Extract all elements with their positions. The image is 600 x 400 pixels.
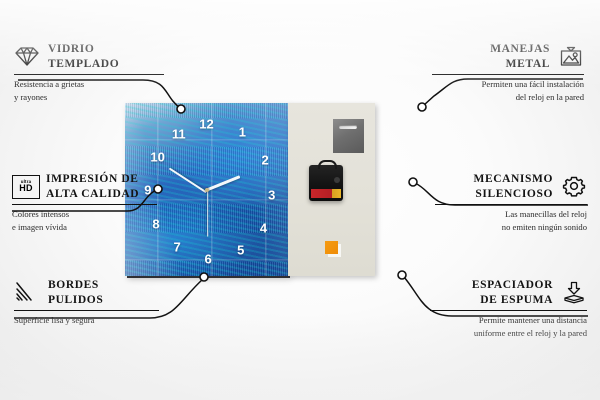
feature-rule-espaciador: [430, 310, 587, 311]
feature-title-espaciador: ESPACIADOR DE ESPUMA: [472, 278, 553, 307]
title-line-2: DE ESPUMA: [472, 293, 553, 308]
feature-title-vidrio-templado: VIDRIO TEMPLADO: [48, 42, 119, 71]
desc-line-1: Resistencia a grietas: [14, 78, 164, 90]
desc-line-1: Las manecillas del reloj: [435, 208, 587, 220]
desc-line-1: Superficie lisa y segura: [14, 314, 159, 326]
feature-desc-impresion: Colores intensos e imagen vívida: [12, 208, 157, 233]
diamond-icon: [14, 45, 40, 69]
feature-title-bordes-pulidos: BORDES PULIDOS: [48, 278, 103, 307]
feature-header-bordes-pulidos: BORDES PULIDOS: [14, 278, 159, 307]
title-line-1: MECANISMO: [473, 172, 553, 187]
title-line-2: METAL: [490, 57, 550, 72]
feature-header-impresion: ultra HD IMPRESIÓN DE ALTA CALIDAD: [12, 172, 157, 201]
feature-header-espaciador: ESPACIADOR DE ESPUMA: [430, 278, 587, 307]
feature-desc-mecanismo: Las manecillas del reloj no emiten ningú…: [435, 208, 587, 233]
infographic-canvas: 12 1 2 3 4 5 6 7 8 9 10 11: [0, 0, 600, 400]
feature-rule-bordes-pulidos: [14, 310, 159, 311]
desc-line-1: Colores intensos: [12, 208, 157, 220]
feature-rule-mecanismo: [435, 204, 587, 205]
title-line-2: TEMPLADO: [48, 57, 119, 72]
feature-title-mecanismo: MECANISMO SILENCIOSO: [473, 172, 553, 201]
title-line-1: BORDES: [48, 278, 103, 293]
desc-line-2: uniforme entre el reloj y la pared: [430, 327, 587, 339]
gear-icon: [561, 175, 587, 199]
desc-line-1: Permiten una fácil instalación: [432, 78, 584, 90]
feature-desc-espaciador: Permite mantener una distancia uniforme …: [430, 314, 587, 339]
feature-manejas-metal: MANEJAS METAL Permiten una fácil instala…: [432, 42, 584, 103]
desc-line-2: y rayones: [14, 91, 164, 103]
feature-espaciador-espuma: ESPACIADOR DE ESPUMA Permite mantener un…: [430, 278, 587, 339]
desc-line-2: no emiten ningún sonido: [435, 221, 587, 233]
connector-dot-mecanismo-silencioso: [409, 178, 417, 186]
feature-header-vidrio-templado: VIDRIO TEMPLADO: [14, 42, 164, 71]
desc-line-2: e imagen vívida: [12, 221, 157, 233]
title-line-1: ESPACIADOR: [472, 278, 553, 293]
feature-desc-bordes-pulidos: Superficie lisa y segura: [14, 314, 159, 326]
title-line-1: VIDRIO: [48, 42, 119, 57]
connector-dot-manejas-metal: [418, 103, 426, 111]
title-line-1: IMPRESIÓN DE: [46, 172, 139, 187]
ultra-hd-icon: ultra HD: [12, 175, 38, 199]
feature-rule-manejas-metal: [432, 74, 584, 75]
feature-title-impresion: IMPRESIÓN DE ALTA CALIDAD: [46, 172, 139, 201]
desc-line-2: del reloj en la pared: [432, 91, 584, 103]
feature-impresion-alta-calidad: ultra HD IMPRESIÓN DE ALTA CALIDAD Color…: [12, 172, 157, 233]
title-line-2: ALTA CALIDAD: [46, 187, 139, 202]
title-line-2: SILENCIOSO: [473, 187, 553, 202]
feature-header-manejas-metal: MANEJAS METAL: [432, 42, 584, 71]
feature-desc-manejas-metal: Permiten una fácil instalación del reloj…: [432, 78, 584, 103]
desc-line-1: Permite mantener una distancia: [430, 314, 587, 326]
title-line-2: PULIDOS: [48, 293, 103, 308]
foam-spacer-icon: [561, 281, 587, 305]
connector-dot-espaciador-espuma: [398, 271, 406, 279]
title-line-1: MANEJAS: [490, 42, 550, 57]
feature-bordes-pulidos: BORDES PULIDOS Superficie lisa y segura: [14, 278, 159, 327]
feature-mecanismo-silencioso: MECANISMO SILENCIOSO Las manecillas del …: [435, 172, 587, 233]
ultra-hd-icon-large-text: HD: [19, 184, 33, 193]
feature-title-manejas-metal: MANEJAS METAL: [490, 42, 550, 71]
polished-edges-icon: [14, 281, 40, 305]
feature-desc-vidrio-templado: Resistencia a grietas y rayones: [14, 78, 164, 103]
connector-dot-vidrio-templado: [177, 105, 185, 113]
feature-header-mecanismo: MECANISMO SILENCIOSO: [435, 172, 587, 201]
picture-frame-hanger-icon: [558, 45, 584, 69]
connector-dot-bordes-pulidos: [200, 273, 208, 281]
feature-rule-impresion: [12, 204, 157, 205]
feature-vidrio-templado: VIDRIO TEMPLADO Resistencia a grietas y …: [14, 42, 164, 103]
feature-rule-vidrio-templado: [14, 74, 164, 75]
